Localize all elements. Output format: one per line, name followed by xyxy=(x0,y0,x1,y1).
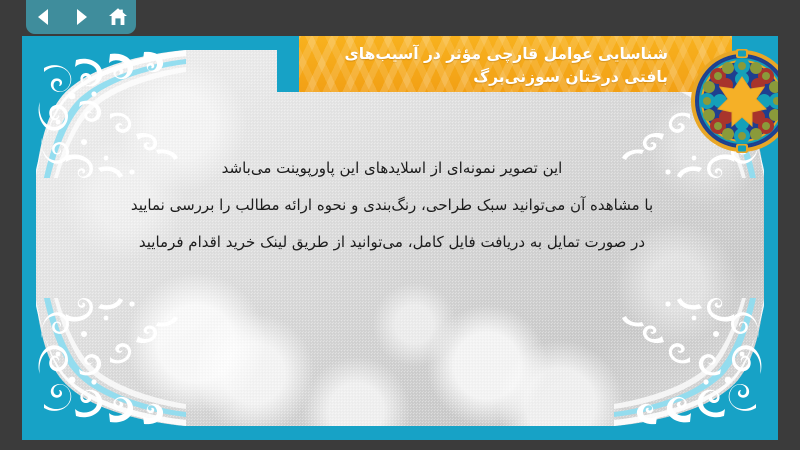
persian-medallion-icon xyxy=(690,49,778,153)
slide-title-banner: شناسایی عوامل قارچی مؤثر در آسیب‌های باف… xyxy=(277,36,732,92)
forward-button[interactable] xyxy=(68,4,94,30)
home-button[interactable] xyxy=(105,4,131,30)
arabesque-corner-bottom-left-icon xyxy=(36,298,186,426)
navigation-bar xyxy=(26,0,136,34)
slide-body-text: این تصویر نمونه‌ای از اسلایدهای این پاور… xyxy=(76,150,708,260)
back-button[interactable] xyxy=(31,4,57,30)
body-line-3: در صورت تمایل به دریافت فایل کامل، می‌تو… xyxy=(76,224,708,261)
page-title: شناسایی عوامل قارچی مؤثر در آسیب‌های باف… xyxy=(277,43,732,92)
slide-content-area: این تصویر نمونه‌ای از اسلایدهای این پاور… xyxy=(36,50,764,426)
triangle-right-icon xyxy=(71,7,91,27)
home-icon xyxy=(107,6,129,28)
triangle-left-icon xyxy=(34,7,54,27)
slide-frame: این تصویر نمونه‌ای از اسلایدهای این پاور… xyxy=(22,36,778,440)
body-line-2: با مشاهده آن می‌توانید سبک طراحی، رنگ‌بن… xyxy=(76,187,708,224)
arabesque-corner-bottom-right-icon xyxy=(614,298,764,426)
body-line-1: این تصویر نمونه‌ای از اسلایدهای این پاور… xyxy=(76,150,708,187)
slide-viewer: این تصویر نمونه‌ای از اسلایدهای این پاور… xyxy=(0,0,800,450)
